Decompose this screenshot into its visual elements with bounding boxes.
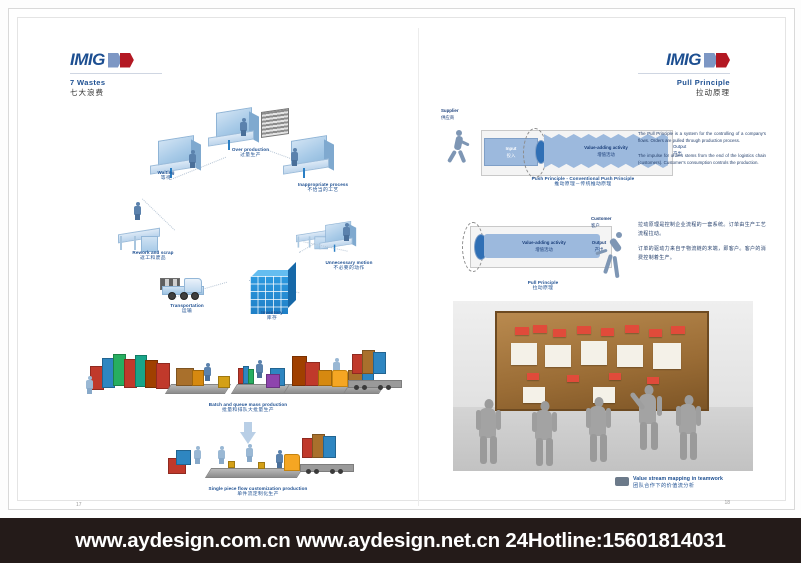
box-item bbox=[176, 450, 191, 465]
caption-waiting: Waiting 等待 bbox=[131, 170, 201, 183]
label-pull-value-en: Value-adding activity bbox=[504, 240, 584, 246]
box-item bbox=[258, 462, 265, 469]
caption-overproduction: Over production 过量生产 bbox=[213, 147, 288, 160]
connector-dots bbox=[142, 199, 175, 231]
caption-single-piece-flow: Single piece flow customization producti… bbox=[173, 486, 343, 499]
label-customer-cn: 客户 bbox=[591, 223, 600, 229]
right-title-en: Pull Principle bbox=[677, 78, 730, 87]
page-number-left: 17 bbox=[76, 502, 82, 508]
running-person-icon bbox=[446, 130, 472, 176]
page-number-right: 18 bbox=[724, 500, 730, 506]
caption-transportation: Transportation 运输 bbox=[148, 303, 226, 316]
person-figure bbox=[535, 401, 554, 469]
box-item bbox=[156, 363, 170, 389]
page-gutter bbox=[418, 28, 419, 506]
person-figure bbox=[276, 450, 283, 467]
right-title-cn: 拉动原理 bbox=[677, 87, 730, 98]
box-item bbox=[318, 370, 332, 386]
photo-whiteboard bbox=[495, 311, 709, 411]
right-page-title: Pull Principle 拉动原理 bbox=[677, 78, 730, 98]
left-title-cn: 七大浪费 bbox=[70, 87, 105, 98]
person-figure bbox=[194, 446, 201, 463]
arrow-flag-icon-right bbox=[704, 53, 730, 68]
header-rule-right bbox=[638, 73, 730, 74]
caption-pull-principle: Pull Principle 拉动原理 bbox=[488, 280, 598, 293]
spread-inner-frame: IMIG 7 Wastes 七大浪费 IMIG Pull Principle bbox=[17, 17, 786, 501]
label-pull-value-cn: 增值活动 bbox=[504, 247, 584, 253]
caption-inappropriate-process: Inappropriate process 不恰当的工艺 bbox=[280, 182, 366, 195]
person-figure bbox=[204, 363, 211, 380]
label-customer-en: Customer bbox=[591, 216, 612, 222]
person-figure bbox=[479, 399, 498, 469]
body-p2-en: The impulse for orders stems from the en… bbox=[638, 152, 766, 167]
logo-wordmark: IMIG bbox=[70, 50, 105, 70]
person-figure bbox=[343, 223, 350, 240]
person-figure bbox=[589, 397, 608, 469]
caption-rework-scrap: Rework and scrap 返工和废品 bbox=[114, 250, 192, 263]
box-item bbox=[248, 369, 254, 384]
person-figure bbox=[218, 446, 225, 463]
logo-right: IMIG bbox=[666, 50, 730, 70]
box-item bbox=[228, 461, 235, 468]
box-item bbox=[266, 374, 280, 388]
header-rule-left bbox=[70, 73, 162, 74]
logo-wordmark-right: IMIG bbox=[666, 50, 701, 70]
body-p2-cn: 订单的驱动力来自于物流链的末端，即客户。客户的消费控制着生产。 bbox=[638, 245, 766, 262]
body-p1-en: The Pull Principle is a system for the c… bbox=[638, 130, 766, 145]
pull-value-band bbox=[484, 234, 600, 258]
camera-icon bbox=[615, 477, 629, 486]
label-value-adding-cn: 增值活动 bbox=[563, 152, 649, 158]
person-figure bbox=[679, 395, 698, 469]
arrow-down-icon bbox=[240, 422, 256, 444]
footer-banner-text: www.aydesign.com.cn www.aydesign.net.cn … bbox=[75, 529, 726, 553]
teamwork-photo bbox=[453, 301, 753, 471]
caption-inventory: Inventory 库存 bbox=[241, 310, 303, 323]
arrow-flag-icon bbox=[108, 53, 134, 68]
pulling-person-icon bbox=[598, 232, 628, 284]
body-copy-cn: 拉动原理是控制企业流程的一套系统。订单由生产工艺流程拉动。 订单的驱动力来自于物… bbox=[638, 221, 766, 269]
person-figure bbox=[256, 360, 263, 377]
box-item bbox=[192, 370, 204, 386]
person-figure bbox=[639, 385, 659, 469]
caption-unnecessary-motion: Unnecessary motion 不必要的动作 bbox=[306, 260, 392, 273]
person-figure bbox=[134, 202, 141, 219]
box-item bbox=[218, 376, 230, 388]
caption-photo: Value stream mapping in teamwork 团队合作下的价… bbox=[633, 476, 763, 490]
caption-batch-queue: Batch and queue mass production 批量和排队大批量… bbox=[178, 402, 318, 415]
screenshot-root: IMIG 7 Wastes 七大浪费 IMIG Pull Principle bbox=[0, 0, 801, 563]
footer-banner: www.aydesign.com.cn www.aydesign.net.cn … bbox=[0, 518, 801, 563]
body-p1-cn: 拉动原理是控制企业流程的一套系统。订单由生产工艺流程拉动。 bbox=[638, 221, 766, 238]
box-item bbox=[323, 436, 336, 458]
left-page-title: 7 Wastes 七大浪费 bbox=[70, 78, 105, 98]
label-value-adding-en: Value-adding activity bbox=[563, 145, 649, 151]
label-supplier-cn: 供应商 bbox=[441, 115, 454, 121]
body-copy-en: The Pull Principle is a system for the c… bbox=[638, 130, 766, 173]
left-title-en: 7 Wastes bbox=[70, 78, 105, 87]
brochure-spread: IMIG 7 Wastes 七大浪费 IMIG Pull Principle bbox=[8, 8, 795, 510]
label-supplier-en: Supplier bbox=[441, 108, 459, 114]
caption-push-principle: Push Principle - Conventional Push Princ… bbox=[513, 176, 653, 189]
box-item bbox=[373, 352, 386, 374]
logo-left: IMIG bbox=[70, 50, 134, 70]
person-figure bbox=[86, 376, 93, 393]
rack-icon bbox=[261, 108, 289, 138]
person-figure bbox=[246, 444, 253, 461]
